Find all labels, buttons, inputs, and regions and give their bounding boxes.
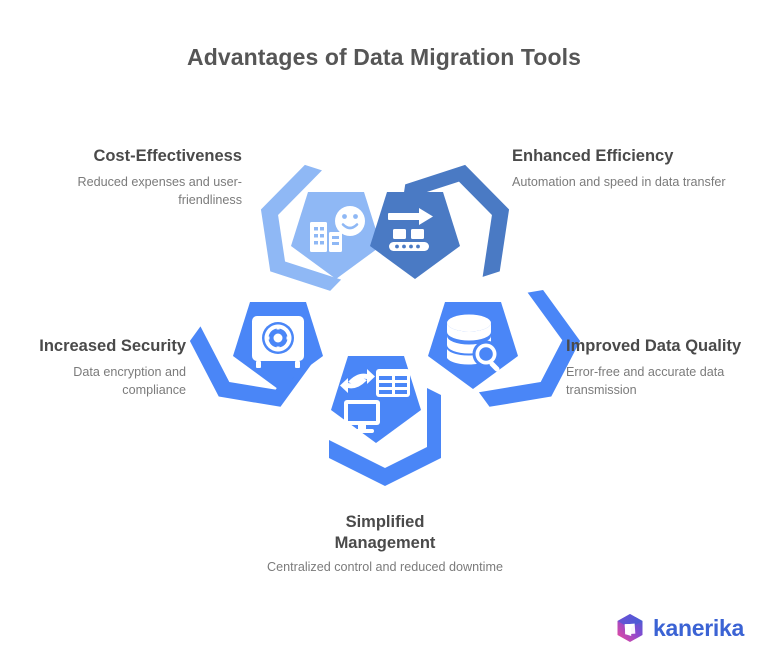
label-body: Reduced expenses and user-friendliness — [24, 173, 242, 210]
kanerika-logo[interactable]: kanerika — [616, 613, 744, 643]
label-body: Data encryption and compliance — [8, 363, 186, 400]
label-heading: Cost-Effectiveness — [24, 146, 242, 167]
label-cost-effectiveness: Cost-Effectiveness Reduced expenses and … — [24, 146, 242, 210]
label-body: Automation and speed in data transfer — [512, 173, 742, 191]
diagram-node-cost-effectiveness[interactable] — [244, 156, 381, 293]
diagram-node-simplified-management[interactable] — [329, 356, 441, 486]
label-heading-line2: Management — [254, 533, 516, 554]
label-heading: Improved Data Quality — [566, 336, 762, 357]
logo-wordmark: kanerika — [653, 615, 744, 642]
page-title: Advantages of Data Migration Tools — [0, 44, 768, 71]
label-heading: Increased Security — [8, 336, 186, 357]
label-body: Centralized control and reduced downtime — [254, 558, 516, 576]
diagram-node-enhanced-efficiency[interactable] — [370, 156, 526, 293]
label-body: Error-free and accurate data transmissio… — [566, 363, 762, 400]
label-increased-security: Increased Security Data encryption and c… — [8, 336, 186, 400]
label-simplified-management: Simplified Management Centralized contro… — [254, 512, 516, 576]
cube-logo-icon — [616, 613, 644, 643]
label-improved-data-quality: Improved Data Quality Error-free and acc… — [566, 336, 762, 400]
diagram-node-increased-security[interactable] — [178, 284, 323, 429]
label-heading: Enhanced Efficiency — [512, 146, 742, 167]
label-heading-line1: Simplified — [254, 512, 516, 533]
label-enhanced-efficiency: Enhanced Efficiency Automation and speed… — [512, 146, 742, 191]
safe-vault-icon — [252, 316, 304, 368]
